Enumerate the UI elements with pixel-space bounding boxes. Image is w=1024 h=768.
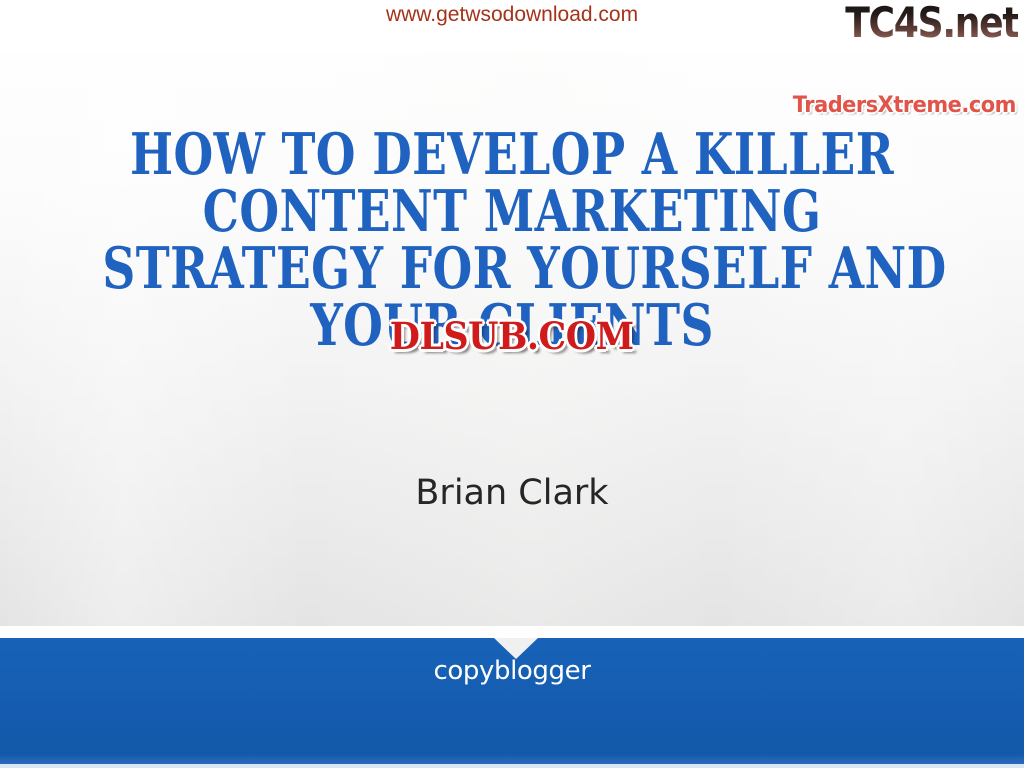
slide-bar-separator — [0, 626, 1024, 638]
copyblogger-wordmark: copyblogger — [0, 655, 1024, 687]
title-line-1: HOW TO DEVELOP A KILLER — [102, 126, 921, 183]
bottom-edge-strip — [0, 764, 1024, 768]
title-line-4: YOUR CLIENTS — [102, 297, 921, 354]
tc4s-logo-watermark: TC4S.net — [845, 0, 1018, 48]
slide-author: Brian Clark — [0, 472, 1024, 514]
presentation-slide-screenshot: www.getwsodownload.com TC4S.net HOW TO D… — [0, 0, 1024, 768]
tradersxtreme-watermark: TradersXtreme.com — [793, 92, 1016, 120]
title-line-2: CONTENT MARKETING — [102, 183, 921, 240]
slide-title: HOW TO DEVELOP A KILLER CONTENT MARKETIN… — [0, 126, 1024, 354]
copyblogger-brand-bar: copyblogger — [0, 638, 1024, 764]
title-line-3: STRATEGY FOR YOURSELF AND — [102, 240, 921, 297]
